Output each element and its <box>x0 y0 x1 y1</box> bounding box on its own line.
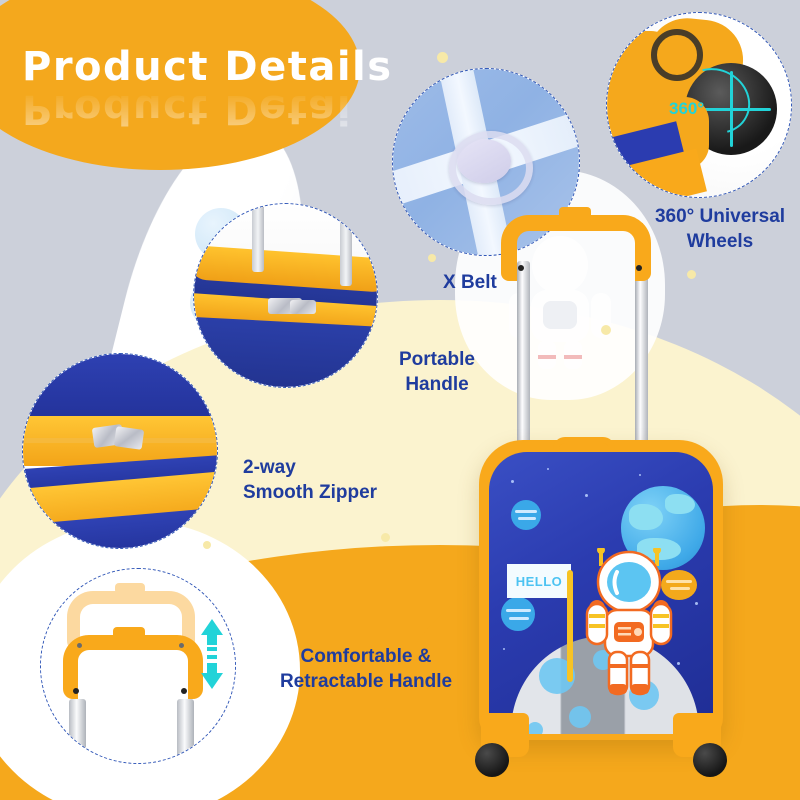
hello-flag: HELLO <box>507 564 571 598</box>
trolley-rod-right <box>340 204 352 286</box>
spinner-wheel-left <box>475 743 509 777</box>
page-title-reflection: Product Details <box>22 86 352 132</box>
trolley-rod-left <box>252 204 264 272</box>
planet-blue-lower <box>501 597 535 631</box>
hello-flag-text: HELLO <box>516 574 563 589</box>
label-smooth-zipper-line2: Smooth Zipper <box>243 481 443 506</box>
zipper-shell-top <box>23 354 217 422</box>
handle-screw-right <box>636 265 642 271</box>
zipper-pull-right <box>114 426 145 450</box>
label-retractable-handle-line2: Retractable Handle <box>241 670 491 695</box>
star <box>585 494 588 497</box>
star <box>511 480 514 483</box>
belt-buckle-ring <box>449 131 533 205</box>
decor-dot <box>381 533 390 542</box>
spinner-wheel-right <box>693 743 727 777</box>
product-suitcase[interactable]: HELLO <box>455 215 745 795</box>
handle-screw-left-upper <box>77 643 82 648</box>
flag-pole <box>567 570 573 682</box>
handle-screw-right-lower <box>181 688 187 694</box>
star <box>639 474 641 476</box>
zipper-pull-second <box>290 300 316 314</box>
detail-circle-smooth-zipper[interactable] <box>22 353 218 549</box>
handle-center-tab <box>559 207 591 219</box>
star <box>547 468 549 470</box>
planet-blue-upper <box>511 500 541 530</box>
handle-bottom-nub <box>113 627 145 639</box>
arrow-up-down-icon <box>199 619 225 689</box>
star <box>503 648 505 650</box>
shell-panel-lower <box>194 316 377 387</box>
product-details-infographic: Product Details Product Details X Belt 3… <box>0 0 800 800</box>
label-smooth-zipper: 2-way Smooth Zipper <box>243 456 443 505</box>
label-retractable-handle-line1: Comfortable & <box>241 645 491 670</box>
trolley-rod-right <box>635 261 648 453</box>
suitcase-shell-artwork: HELLO <box>489 452 713 734</box>
page-title: Product Details <box>22 44 352 90</box>
trolley-rod-left <box>517 261 530 453</box>
detail-circle-universal-wheels[interactable]: 360° <box>606 12 792 198</box>
handle-rod-left <box>69 699 86 763</box>
astronaut-graphic <box>581 548 677 698</box>
decor-dot <box>428 254 436 262</box>
decor-dot <box>437 52 448 63</box>
handle-top-nub <box>115 583 145 594</box>
star <box>695 602 698 605</box>
handle-rod-right <box>177 699 194 763</box>
detail-circle-retractable-handle[interactable] <box>40 568 236 764</box>
badge-360: 360° <box>669 99 704 119</box>
telescoping-handle-grip[interactable] <box>501 215 651 281</box>
detail-circle-portable-handle[interactable] <box>193 203 378 388</box>
handle-screw-right-upper <box>179 643 184 648</box>
handle-screw-left <box>518 265 524 271</box>
star <box>677 662 680 665</box>
handle-screw-left-lower <box>73 688 79 694</box>
label-retractable-handle: Comfortable & Retractable Handle <box>241 645 491 694</box>
label-smooth-zipper-line1: 2-way <box>243 456 443 481</box>
